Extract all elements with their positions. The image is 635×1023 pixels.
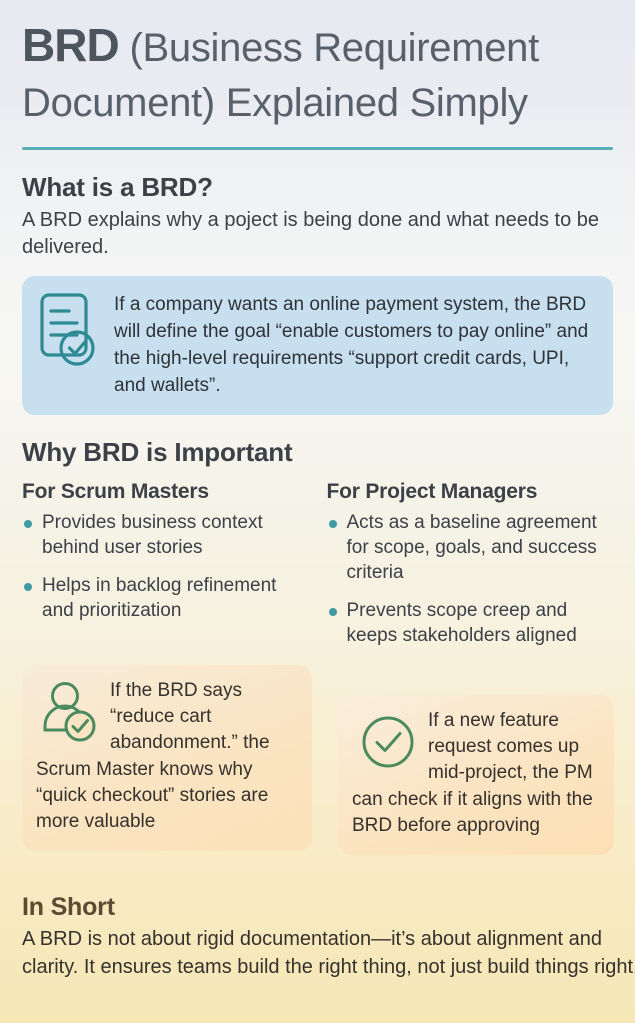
project-managers-bullet-list: Acts as a baseline agreement for scope, … <box>327 511 614 648</box>
column-scrum-masters: For Scrum Masters Provides business cont… <box>22 480 309 648</box>
user-check-icon <box>42 682 100 742</box>
infographic-page: BRD (Business Requirement Document) Expl… <box>0 0 635 1023</box>
scrum-masters-bullet-list: Provides business context behind user st… <box>22 511 309 624</box>
document-check-icon <box>36 293 100 371</box>
in-short-heading: In Short <box>22 893 635 922</box>
example-card-scrum-master: If the BRD says “reduce cart abandonment… <box>22 665 312 851</box>
example-box-payment: If a company wants an online payment sys… <box>22 276 613 415</box>
list-item: Prevents scope creep and keeps stakehold… <box>327 599 614 649</box>
why-brd-heading: Why BRD is Important <box>22 437 613 468</box>
what-is-brd-heading: What is a BRD? <box>22 172 613 203</box>
section-in-short: In Short A BRD is not about rigid docume… <box>22 893 635 982</box>
why-columns: For Scrum Masters Provides business cont… <box>22 480 613 648</box>
section-why-brd-important: Why BRD is Important For Scrum Masters P… <box>22 437 613 648</box>
example-card-project-manager: If a new feature request comes up mid-pr… <box>338 695 614 855</box>
column-scrum-masters-heading: For Scrum Masters <box>22 480 309 504</box>
column-project-managers: For Project Managers Acts as a baseline … <box>327 480 614 648</box>
example-box-payment-text: If a company wants an online payment sys… <box>114 290 597 400</box>
list-item: Helps in backlog refinement and prioriti… <box>22 574 309 624</box>
in-short-body: A BRD is not about rigid documentation—i… <box>22 925 635 982</box>
what-is-brd-body: A BRD explains why a poject is being don… <box>22 207 613 260</box>
page-title-strong: BRD <box>22 19 119 71</box>
check-circle-icon <box>360 714 416 770</box>
list-item: Acts as a baseline agreement for scope, … <box>327 511 614 586</box>
title-divider <box>22 147 613 150</box>
page-title: BRD (Business Requirement Document) Expl… <box>22 0 613 130</box>
column-project-managers-heading: For Project Managers <box>327 480 614 504</box>
list-item: Provides business context behind user st… <box>22 511 309 561</box>
section-what-is-brd: What is a BRD? A BRD explains why a poje… <box>22 172 613 415</box>
